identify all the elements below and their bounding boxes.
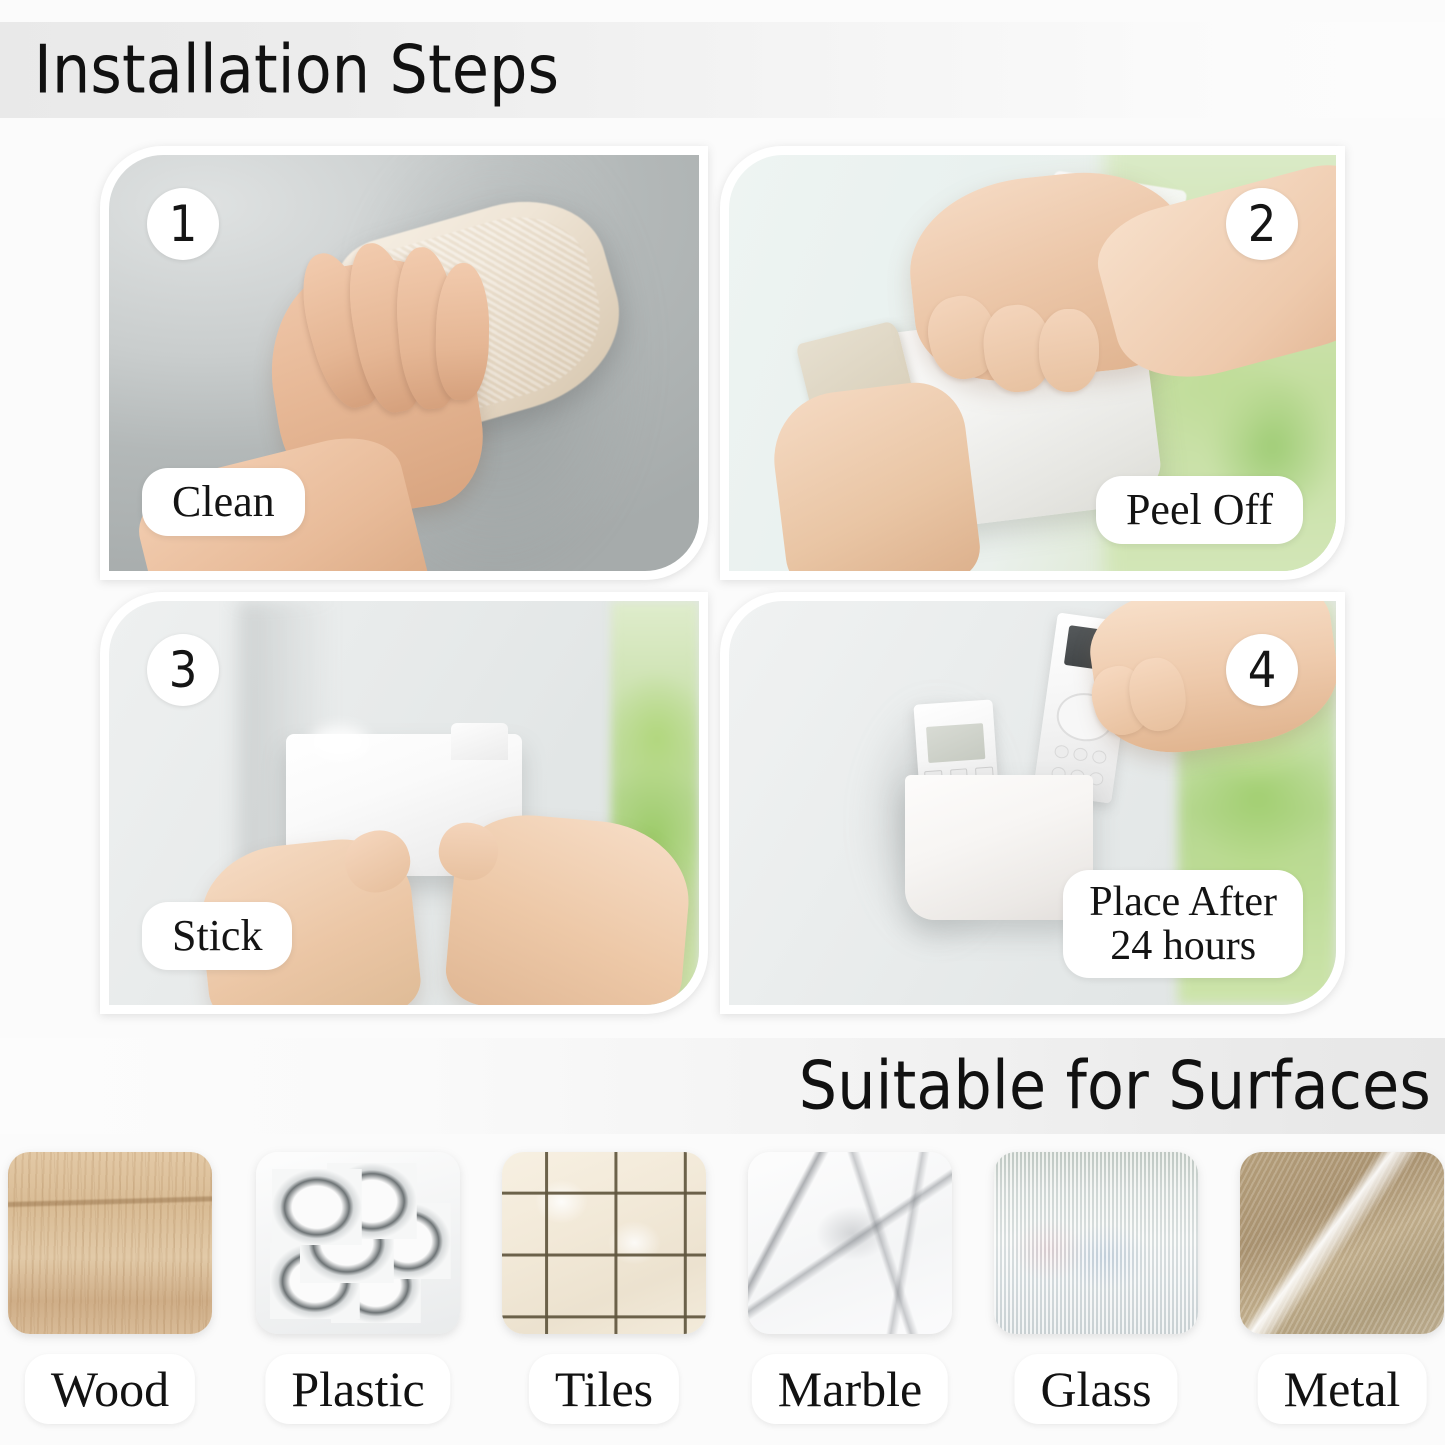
step-label-4-line1: Place After <box>1089 879 1277 925</box>
step-panel-3: 3 Stick <box>100 592 708 1014</box>
surface-item-glass: Glass <box>994 1152 1198 1334</box>
surface-item-metal: Metal <box>1240 1152 1444 1334</box>
step-panel-4: 4 Place After 24 hours <box>720 592 1345 1014</box>
surface-label-wood: Wood <box>25 1354 195 1424</box>
installation-steps-title: Installation Steps <box>34 37 559 104</box>
finger-shape <box>435 263 490 401</box>
remote-button <box>1091 750 1107 765</box>
remote-button <box>1053 744 1069 759</box>
step-panel-2: 2 Peel Off <box>720 146 1345 580</box>
remote-button <box>1072 747 1088 762</box>
surface-item-marble: Marble <box>748 1152 952 1334</box>
surface-item-tiles: Tiles <box>502 1152 706 1334</box>
suitable-surfaces-title: Suitable for Surfaces <box>799 1053 1431 1120</box>
suitable-surfaces-band: Suitable for Surfaces <box>0 1038 1445 1134</box>
tiles-swatch-image <box>502 1152 706 1334</box>
step-panel-1: 1 Clean <box>100 146 708 580</box>
surface-swatch-row: Wood Plastic Tiles Marble Glass Metal <box>0 1152 1445 1445</box>
lower-hand-shape <box>766 377 983 571</box>
wood-swatch-image <box>8 1152 212 1334</box>
marble-swatch-image <box>748 1152 952 1334</box>
step-number-badge-3: 3 <box>147 634 219 706</box>
step-label-3: Stick <box>142 902 292 970</box>
knuckle-shape <box>1039 309 1100 392</box>
step-label-1: Clean <box>142 468 305 536</box>
step-label-2: Peel Off <box>1096 476 1303 544</box>
surface-label-tiles: Tiles <box>529 1354 679 1424</box>
step-label-4: Place After 24 hours <box>1063 870 1303 978</box>
surface-label-glass: Glass <box>1014 1354 1177 1424</box>
installation-steps-band: Installation Steps <box>0 22 1445 118</box>
glass-swatch-image <box>994 1152 1198 1334</box>
remote-screen <box>926 723 985 763</box>
plastic-swatch-image <box>256 1152 460 1334</box>
step-label-4-line2: 24 hours <box>1089 924 1277 968</box>
surface-label-plastic: Plastic <box>265 1354 450 1424</box>
surface-item-plastic: Plastic <box>256 1152 460 1334</box>
surface-label-marble: Marble <box>752 1354 948 1424</box>
step-number-badge-2: 2 <box>1226 188 1298 260</box>
surface-label-metal: Metal <box>1258 1354 1427 1424</box>
step-number-badge-1: 1 <box>147 188 219 260</box>
infographic-page: Installation Steps 1 Clean <box>0 0 1445 1445</box>
step-number-badge-4: 4 <box>1226 634 1298 706</box>
installation-steps-grid: 1 Clean 2 Peel Off <box>100 146 1345 1014</box>
caddy-highlight <box>310 726 369 758</box>
surface-item-wood: Wood <box>8 1152 212 1334</box>
metal-swatch-image <box>1240 1152 1444 1334</box>
